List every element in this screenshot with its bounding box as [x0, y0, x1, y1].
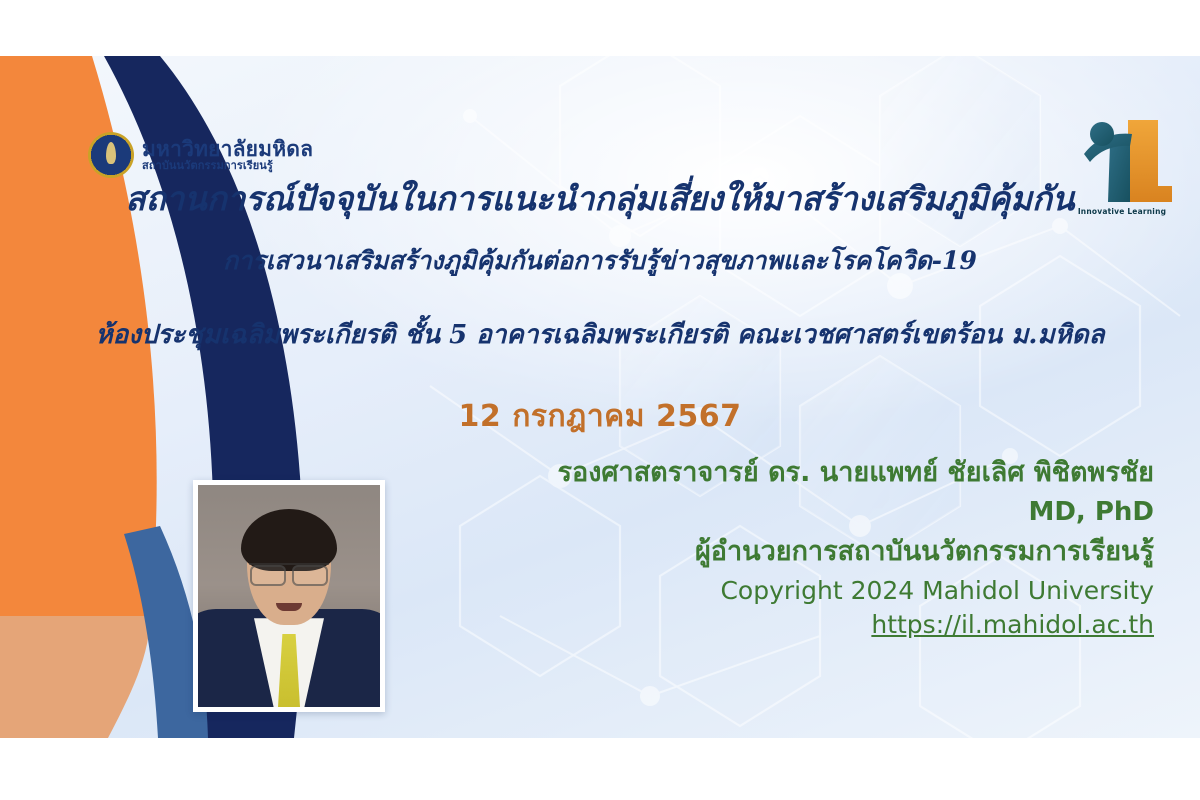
copyright-text: Copyright 2024 Mahidol University [414, 575, 1154, 608]
speaker-position: ผู้อำนวยการสถาบันนวัตกรรมการเรียนรู้ [414, 534, 1154, 569]
speaker-info-block: รองศาสตราจารย์ ดร. นายแพทย์ ชัยเลิศ พิชิ… [414, 456, 1154, 642]
slide-venue: ห้องประชุมเฉลิมพระเกียรติ ชั้น 5 อาคารเฉ… [0, 314, 1200, 355]
mahidol-logo-text: มหาวิทยาลัยมหิดล สถาบันนวัตกรรมการเรียนร… [142, 138, 313, 172]
portrait-glasses-icon [249, 563, 329, 584]
speaker-photo [193, 480, 385, 712]
slide-subtitle: การเสวนาเสริมสร้างภูมิคุ้มกันต่อการรับรู… [0, 241, 1200, 281]
slide-frame: มหาวิทยาลัยมหิดล สถาบันนวัตกรรมการเรียนร… [0, 0, 1200, 800]
presentation-slide: มหาวิทยาลัยมหิดล สถาบันนวัตกรรมการเรียนร… [0, 56, 1200, 738]
website-link[interactable]: https://il.mahidol.ac.th [871, 609, 1154, 642]
speaker-degree: MD, PhD [414, 496, 1154, 530]
speaker-name: รองศาสตราจารย์ ดร. นายแพทย์ ชัยเลิศ พิชิ… [414, 456, 1154, 490]
slide-title: สถานการณ์ปัจจุบันในการแนะนำกลุ่มเสี่ยงให… [0, 172, 1200, 225]
university-name-th: มหาวิทยาลัยมหิดล [142, 138, 313, 160]
portrait-image [198, 485, 380, 707]
institute-name-th: สถาบันนวัตกรรมการเรียนรู้ [142, 160, 313, 172]
portrait-mouth [276, 603, 302, 611]
slide-date: 12 กรกฎาคม 2567 [0, 393, 1200, 440]
